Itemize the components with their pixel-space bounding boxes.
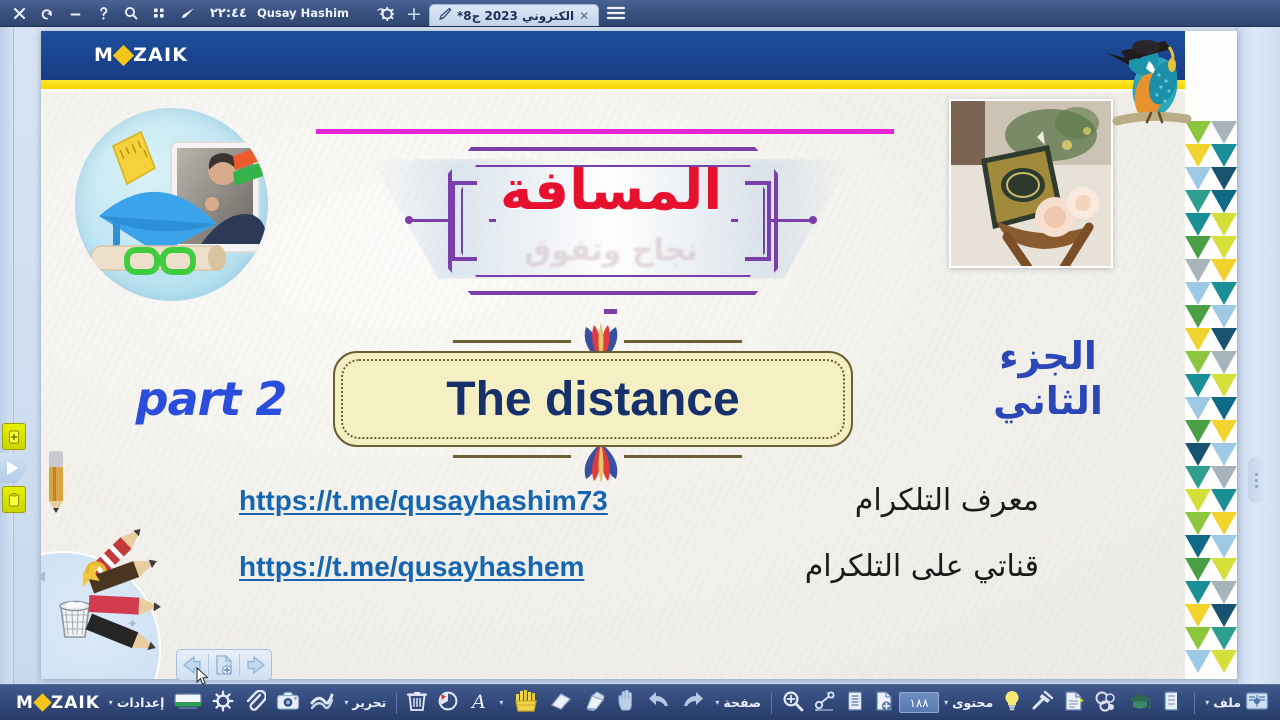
redo-icon <box>681 691 705 715</box>
clock-display: ٢٢:٤٤ <box>202 6 255 21</box>
eraser-button[interactable] <box>544 688 578 718</box>
page-number-badge[interactable]: ١٨٨ <box>899 692 939 713</box>
hand-icon <box>617 690 637 716</box>
right-rail-grip[interactable] <box>1248 457 1264 503</box>
redo-button[interactable] <box>676 688 710 718</box>
mozaik-logo-left: M <box>94 44 114 66</box>
plate-rule-top-right <box>624 340 742 343</box>
telegram-channel-row: قناتي على التلكرام https://t.me/qusayhas… <box>239 549 1039 584</box>
pen-icon[interactable] <box>174 1 200 25</box>
lightbulb-icon <box>1003 690 1021 716</box>
edit-pencil-icon <box>437 7 452 24</box>
toolbar-separator-2 <box>771 692 772 714</box>
idea-button[interactable] <box>998 688 1026 718</box>
telegram-id-row: معرف التلكرام https://t.me/qusayhashim73 <box>239 483 1039 518</box>
gear-icon <box>212 690 234 716</box>
list-icon <box>846 690 864 716</box>
zoom-in-button[interactable] <box>777 688 809 718</box>
highlighter-button[interactable] <box>578 688 612 718</box>
title-lead-left <box>409 219 455 222</box>
trash-icon <box>407 690 427 716</box>
title-lead-right <box>767 219 813 222</box>
whiteboard-button[interactable] <box>169 688 207 718</box>
chevron-down-icon: ▾ <box>1205 698 1209 707</box>
whiteboard-icon <box>174 692 202 714</box>
rotate-button[interactable] <box>432 688 464 718</box>
mozaik-footer-right: ZAIK <box>51 693 100 713</box>
eraser-icon <box>549 691 573 715</box>
chevron-down-icon: ▾ <box>344 698 348 707</box>
paperclip-icon <box>244 690 266 716</box>
rotate-icon <box>437 690 459 716</box>
tools-button[interactable] <box>1026 688 1058 718</box>
kingfisher-bird-image <box>1099 31 1203 141</box>
grid-icon[interactable] <box>146 1 172 25</box>
edit-menu[interactable]: تحرير ▾ <box>339 688 391 718</box>
graduation-button[interactable] <box>1123 688 1157 718</box>
mozaik-logo-diamond <box>113 44 134 65</box>
tab-label: الكتروني 2023 ج8* <box>457 9 574 23</box>
gear-sparkle-icon: ✦ <box>127 617 138 632</box>
text-a-icon: A <box>469 690 489 716</box>
pencil-fan <box>83 513 293 663</box>
plate-rule-top-left <box>453 340 571 343</box>
plate-rule-bottom-right <box>624 455 742 458</box>
document-icon <box>1063 690 1084 716</box>
english-title-plate: The distance <box>333 351 853 447</box>
quran-image <box>949 99 1113 268</box>
chevron-down-icon: ▾ <box>499 698 503 707</box>
application-window: ٢٢:٤٤ Qusay Hashim + <box>0 0 1280 720</box>
undo-icon[interactable] <box>34 1 60 25</box>
teacher-badge-image <box>75 108 268 301</box>
title-bar-tabs: + ✕ الكتروني 2023 ج8* <box>399 0 633 26</box>
undo-button[interactable] <box>642 688 676 718</box>
title-tick-right <box>731 219 738 222</box>
play-button[interactable] <box>0 453 28 483</box>
chevron-down-icon: ▾ <box>109 698 113 707</box>
edit-menu-label: تحرير <box>352 695 386 710</box>
new-tab-button[interactable]: + <box>399 2 429 26</box>
graduation-cap-icon <box>1128 691 1152 715</box>
telegram-channel-label: قناتي على التلكرام <box>805 549 1039 584</box>
check-icon <box>310 690 334 716</box>
pen-options-caret[interactable]: ▾ <box>494 688 508 718</box>
title-stub <box>604 309 617 314</box>
arabic-part-line-1: الجزء <box>953 334 1143 379</box>
content-menu-label: محتوى <box>952 695 993 710</box>
mozaik-logo: M ZAIK <box>94 44 188 66</box>
measure-button[interactable] <box>809 688 841 718</box>
settings-menu[interactable]: إعدادات ▾ <box>104 688 170 718</box>
help-icon[interactable] <box>90 1 116 25</box>
arabic-title-block: نجاح وتفوق المسافة <box>401 129 821 315</box>
hamburger-menu-icon[interactable] <box>599 0 633 26</box>
part-label: part 2 <box>101 372 321 426</box>
header-yellow-strip <box>41 80 1237 89</box>
measure-icon <box>814 690 836 716</box>
title-ghost-text: نجاح وتفوق <box>401 233 821 268</box>
arabic-part-line-2: الثاني <box>953 379 1143 424</box>
chemistry-icon <box>1094 690 1118 716</box>
right-rail <box>1236 27 1280 684</box>
list-button[interactable] <box>841 688 869 718</box>
workspace: M ZAIK <box>0 27 1280 684</box>
add-note-button[interactable] <box>2 423 26 450</box>
chemistry-button[interactable] <box>1089 688 1123 718</box>
bottom-toolbar: ملف ▾ <box>0 684 1280 720</box>
undo-icon <box>647 691 671 715</box>
notebook-icon <box>1162 690 1184 716</box>
mozaik-footer-logo: M ZAIK <box>6 693 100 713</box>
title-tick-left <box>489 219 496 222</box>
telegram-id-link[interactable]: https://t.me/qusayhashim73 <box>239 485 608 517</box>
gear-icon[interactable] <box>371 1 397 25</box>
title-bar: ٢٢:٤٤ Qusay Hashim + <box>0 0 1280 27</box>
fan-ornament-bottom <box>568 443 634 483</box>
content-menu[interactable]: محتوى ▾ <box>939 688 998 718</box>
title-bar-left-controls: ٢٢:٤٤ Qusay Hashim <box>0 0 399 26</box>
clip-button[interactable] <box>239 688 271 718</box>
prev-page-button[interactable] <box>177 650 208 680</box>
chevron-down-icon: ▾ <box>944 698 948 707</box>
hand-button[interactable] <box>612 688 642 718</box>
add-document-button[interactable] <box>869 688 899 718</box>
clipboard-button[interactable] <box>2 486 26 513</box>
page-menu[interactable]: صفحة ▾ <box>710 688 766 718</box>
plate-rule-bottom-left <box>453 455 571 458</box>
checkmark-button[interactable] <box>305 688 339 718</box>
close-icon[interactable] <box>6 1 32 25</box>
next-page-button[interactable] <box>240 650 271 680</box>
slide-header-band <box>41 31 1237 80</box>
left-rail <box>0 27 14 684</box>
settings-gear-button[interactable] <box>207 688 239 718</box>
file-menu[interactable]: ملف ▾ <box>1200 688 1274 718</box>
svg-text:A: A <box>471 691 487 712</box>
camera-icon <box>276 691 300 715</box>
document-button[interactable] <box>1058 688 1089 718</box>
mozaik-footer-left: M <box>16 693 34 713</box>
add-page-button[interactable] <box>209 650 240 680</box>
zoom-in-icon <box>782 690 804 716</box>
toolbar-separator-1 <box>1194 692 1195 714</box>
telegram-id-label: معرف التلكرام <box>855 483 1039 518</box>
file-menu-label: ملف <box>1213 695 1241 710</box>
search-icon[interactable] <box>118 1 144 25</box>
settings-menu-label: إعدادات <box>117 695 165 710</box>
mozaik-footer-diamond <box>33 693 51 711</box>
add-document-icon <box>874 690 894 716</box>
camera-button[interactable] <box>271 688 305 718</box>
hammer-icon <box>1031 690 1053 716</box>
page-navigation <box>176 649 272 681</box>
left-tool-column <box>0 422 30 514</box>
page-menu-label: صفحة <box>723 695 761 710</box>
document-tab[interactable]: ✕ الكتروني 2023 ج8* <box>429 4 599 26</box>
slide-page[interactable]: M ZAIK <box>41 31 1237 679</box>
english-title: The distance <box>335 353 851 445</box>
text-button[interactable]: A <box>464 688 494 718</box>
notebook-button[interactable] <box>1157 688 1189 718</box>
close-tab-icon[interactable]: ✕ <box>579 9 589 23</box>
chevron-down-icon: ▾ <box>715 698 719 707</box>
arrow-sparkle-left: ◀ <box>41 569 45 584</box>
minimize-icon[interactable] <box>62 1 88 25</box>
arabic-title: المسافة <box>401 163 821 218</box>
arabic-part-label: الجزء الثاني <box>953 334 1143 424</box>
book-icon <box>1245 691 1269 715</box>
highlighter-icon <box>583 690 607 716</box>
user-name-label: Qusay Hashim <box>257 6 359 20</box>
mozaik-logo-right: ZAIK <box>133 44 188 66</box>
pen-holder-button[interactable] <box>508 688 544 718</box>
pen-holder-icon <box>513 690 539 716</box>
toolbar-separator-3 <box>396 692 397 714</box>
delete-button[interactable] <box>402 688 432 718</box>
single-pencil-icon <box>45 451 67 513</box>
